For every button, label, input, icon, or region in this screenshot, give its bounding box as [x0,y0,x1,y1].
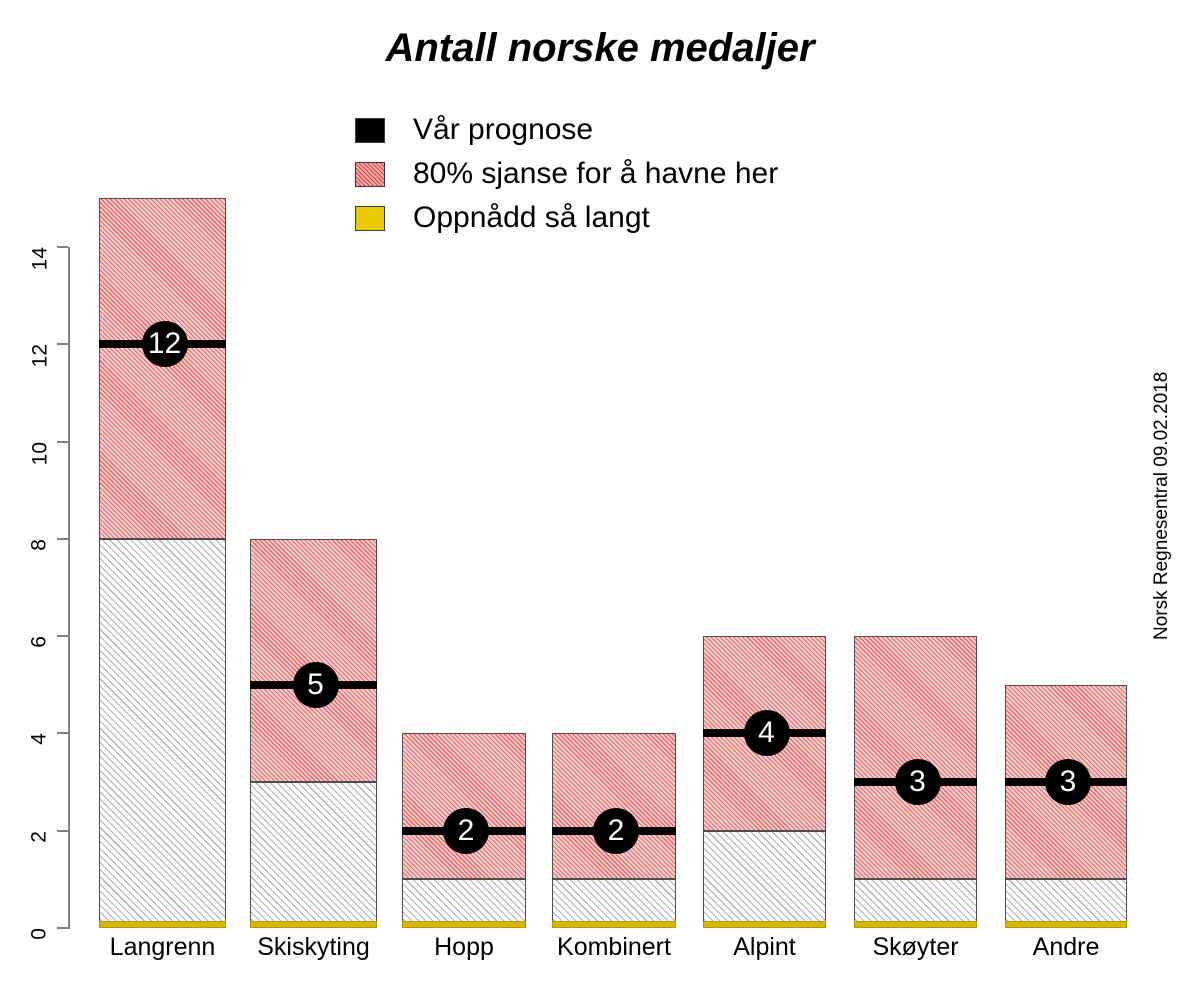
y-axis-tick-mark [57,927,68,929]
bar-segment-interval [552,733,676,879]
bar-segment-below-interval [250,782,377,928]
bar-andre [1005,685,1127,928]
prognosis-value-badge: 3 [895,759,941,805]
bar-skiskyting [250,539,377,928]
y-axis-tick-label: 10 [14,432,44,452]
y-axis-tick-label: 8 [14,529,44,549]
y-axis-tick-value: 8 [30,539,50,551]
bar-segment-achieved [552,921,676,928]
y-axis-tick-value: 10 [30,442,50,465]
y-axis-tick-mark [57,732,68,734]
prognosis-value-badge: 4 [744,710,790,756]
bar-segment-achieved [854,921,977,928]
prognosis-value-badge: 3 [1045,759,1091,805]
y-axis-tick-mark [57,635,68,637]
bar-alpint [703,636,826,928]
y-axis-tick-label: 4 [14,723,44,743]
y-axis-tick-mark [57,343,68,345]
y-axis-tick-value: 4 [30,733,50,745]
chart-plot-area: 02468101214 12522433 LangrennSkiskytingH… [0,0,1200,1000]
y-axis-tick-mark [57,246,68,248]
y-axis-tick-value: 12 [30,344,50,367]
credit-label: Norsk Regnesentral 09.02.2018 [1152,372,1172,640]
prognosis-value-badge: 5 [293,662,339,708]
bar-langrenn [99,198,226,928]
bar-segment-interval [99,198,226,539]
y-axis-tick-value: 2 [30,831,50,843]
bar-segment-below-interval [99,539,226,928]
y-axis-tick-mark [57,441,68,443]
y-axis-line [68,247,70,929]
prognosis-value-badge: 2 [443,808,489,854]
prognosis-value-badge: 12 [142,321,188,367]
bar-segment-achieved [99,921,226,928]
bar-segment-interval [402,733,526,879]
bar-segment-below-interval [703,831,826,928]
y-axis-tick-mark [57,830,68,832]
y-axis-tick-value: 14 [30,247,50,270]
y-axis-tick-value: 6 [30,636,50,648]
y-axis-tick-label: 0 [14,918,44,938]
bar-segment-achieved [1005,921,1127,928]
y-axis-tick-mark [57,538,68,540]
y-axis-tick-label: 2 [14,821,44,841]
bar-segment-interval [250,539,377,782]
y-axis-tick-label: 14 [14,237,44,257]
credit-text: Norsk Regnesentral 09.02.2018 [1152,640,1172,940]
y-axis-tick-label: 6 [14,626,44,646]
bar-segment-achieved [250,921,377,928]
y-axis-tick-value: 0 [30,928,50,940]
bar-segment-achieved [703,921,826,928]
x-axis-label-andre: Andre [965,932,1167,962]
bar-segment-interval [854,636,977,879]
y-axis-tick-label: 12 [14,334,44,354]
prognosis-value-badge: 2 [593,808,639,854]
bar-segment-achieved [402,921,526,928]
